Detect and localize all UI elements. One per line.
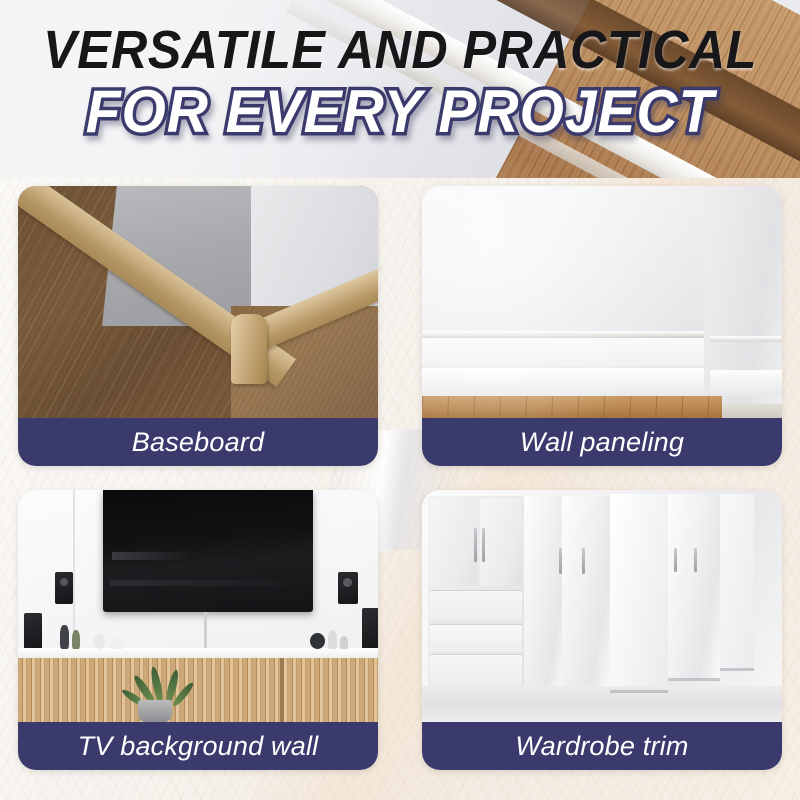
tower-speaker-right — [362, 608, 378, 652]
decor-vase-6 — [328, 630, 337, 649]
feature-card-wall-paneling[interactable]: Wall paneling — [422, 186, 782, 466]
television-screen-reflection-lower — [110, 580, 310, 586]
wardrobe-column-4 — [668, 494, 720, 680]
tv-wall-seam-left — [73, 490, 75, 642]
wall-paneling-label-bar: Wall paneling — [422, 418, 782, 466]
wall-speaker-right-icon — [338, 572, 358, 604]
tower-speaker-left — [24, 613, 42, 649]
wardrobe-handle-1 — [474, 528, 477, 562]
wardrobe-drawer-2 — [430, 624, 522, 655]
wardrobe-floor-shadow-2 — [668, 678, 720, 681]
baseboard-label-text: Baseboard — [132, 427, 264, 458]
decor-vase-2 — [72, 630, 80, 649]
wall-speaker-left-icon — [55, 572, 73, 604]
wardrobe-door-1 — [430, 498, 478, 586]
wall-paneling-photo — [422, 186, 782, 418]
television-screen — [103, 490, 313, 612]
tv-console-shelf — [18, 648, 378, 658]
decor-vase-7 — [340, 636, 348, 649]
wardrobe-column-2 — [562, 496, 610, 696]
wardrobe-handle-3 — [559, 548, 562, 574]
wardrobe-handle-5 — [674, 548, 677, 572]
feature-card-baseboard[interactable]: Baseboard — [18, 186, 378, 466]
wardrobe-label-text: Wardrobe trim — [515, 731, 688, 762]
plant-pot — [138, 700, 172, 722]
tv-wall-photo — [18, 490, 378, 722]
decor-object-3 — [94, 634, 105, 649]
decor-object-5 — [310, 633, 325, 649]
wardrobe-column-5 — [720, 494, 754, 670]
feature-card-wardrobe-trim[interactable]: Wardrobe trim — [422, 490, 782, 770]
wardrobe-door-2 — [480, 498, 522, 586]
feature-card-grid: Baseboard Wall paneling — [18, 186, 782, 780]
television-screen-reflection — [112, 552, 192, 560]
wardrobe-photo — [422, 490, 782, 722]
wardrobe-drawer-1 — [430, 590, 522, 625]
headline-primary: VERSATILE AND PRACTICAL — [28, 0, 772, 78]
baseboard-photo — [18, 186, 378, 418]
wood-slat-panel-seam — [280, 658, 284, 722]
tv-wall-label-text: TV background wall — [78, 731, 319, 762]
wardrobe-handle-4 — [582, 548, 585, 574]
wardrobe-floor-shadow-3 — [720, 668, 754, 671]
headline-secondary: FOR EVERY PROJECT — [20, 78, 780, 144]
baseboard-label-bar: Baseboard — [18, 418, 378, 466]
infographic-page: VERSATILE AND PRACTICAL FOR EVERY PROJEC… — [0, 0, 800, 800]
decor-object-4 — [111, 638, 125, 649]
wardrobe-column-3 — [610, 494, 668, 694]
wardrobe-label-bar: Wardrobe trim — [422, 722, 782, 770]
wall-paneling-light-glow — [422, 186, 782, 418]
wardrobe-column-1 — [524, 496, 562, 708]
wardrobe-handle-6 — [694, 548, 697, 572]
wardrobe-floor — [422, 686, 782, 722]
wall-paneling-label-text: Wall paneling — [520, 427, 684, 458]
wardrobe-handle-2 — [482, 528, 485, 562]
baseboard-corner-piece — [231, 314, 267, 384]
wardrobe-floor-shadow-1 — [610, 690, 668, 693]
wardrobe-drawer-3 — [430, 654, 522, 689]
tv-wall-label-bar: TV background wall — [18, 722, 378, 770]
decor-vase-1 — [60, 625, 69, 649]
feature-card-tv-background-wall[interactable]: TV background wall — [18, 490, 378, 770]
wood-slat-panel — [18, 658, 378, 722]
title-block: VERSATILE AND PRACTICAL FOR EVERY PROJEC… — [0, 0, 800, 144]
